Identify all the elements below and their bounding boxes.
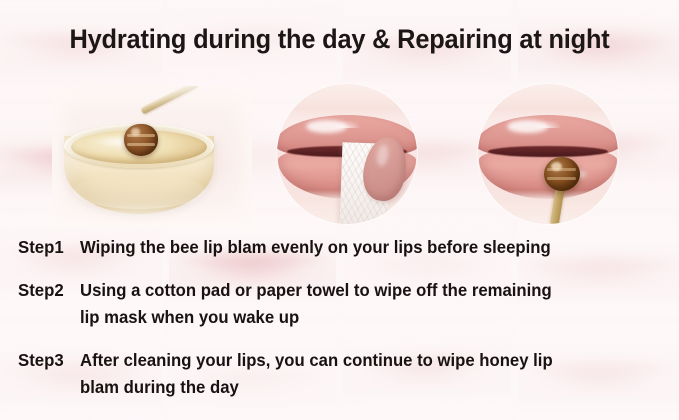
lips-honey-dipper-photo xyxy=(478,84,618,224)
step-3-label: Step3 xyxy=(18,347,78,373)
step-1-body: Wiping the bee lip blam evenly on your l… xyxy=(80,234,679,261)
step-2-line-2: lip mask when you wake up xyxy=(80,304,639,331)
honey-bowl-photo xyxy=(52,86,252,228)
step-2-label: Step2 xyxy=(18,277,78,303)
step-1-line-1: Wiping the bee lip blam evenly on your l… xyxy=(80,234,639,261)
step-2-body: Using a cotton pad or paper towel to wip… xyxy=(80,277,679,331)
steps-list: Step1 Wiping the bee lip blam evenly on … xyxy=(0,234,679,405)
step-1-label: Step1 xyxy=(18,234,78,260)
step-row-1: Step1 Wiping the bee lip blam evenly on … xyxy=(0,234,679,261)
honey-photo-vignette xyxy=(52,86,252,228)
step-3-line-2: blam during the day xyxy=(80,374,639,401)
step-row-3: Step3 After cleaning your lips, you can … xyxy=(0,347,679,401)
photo-row xyxy=(0,84,679,230)
honey-dipper-head-icon xyxy=(544,157,580,191)
poster-title: Hydrating during the day & Repairing at … xyxy=(20,26,658,53)
lips-cotton-pad-photo xyxy=(277,84,417,224)
step-row-2: Step2 Using a cotton pad or paper towel … xyxy=(0,277,679,331)
lip-mask-instruction-poster: Hydrating during the day & Repairing at … xyxy=(0,0,679,420)
skin-lower xyxy=(478,190,618,224)
mouth-line xyxy=(488,146,607,157)
step-3-line-1: After cleaning your lips, you can contin… xyxy=(80,347,639,374)
step-3-body: After cleaning your lips, you can contin… xyxy=(80,347,679,401)
step-2-line-1: Using a cotton pad or paper towel to wip… xyxy=(80,277,639,304)
